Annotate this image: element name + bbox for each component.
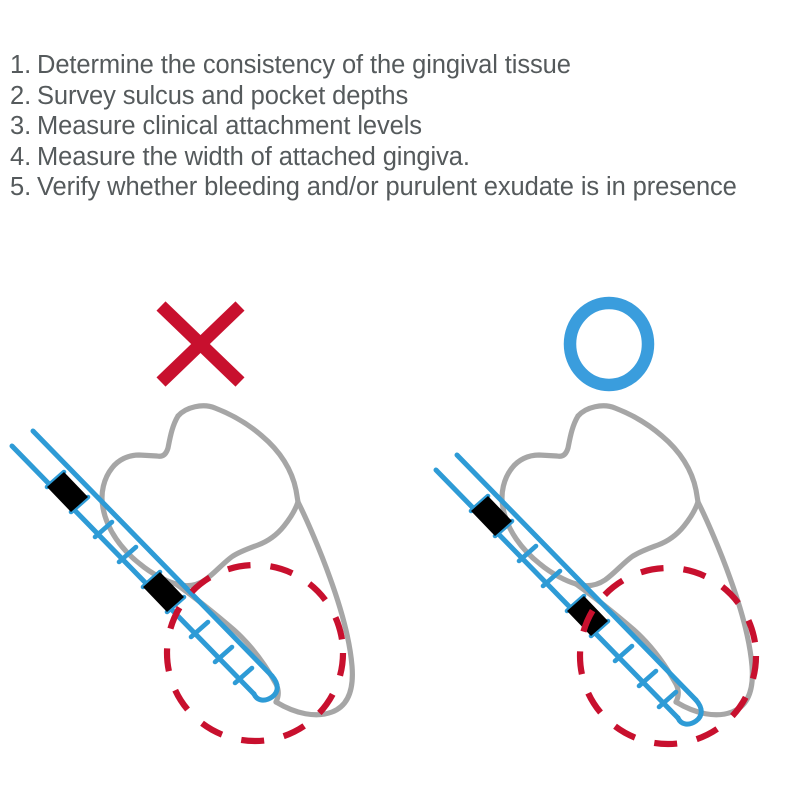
list-item: 4. Measure the width of attached gingiva… xyxy=(10,142,800,173)
red-dashed-circle-highlight xyxy=(580,568,756,744)
incorrect-probing-figure xyxy=(0,398,400,768)
page-root: 1. Determine the consistency of the ging… xyxy=(0,0,800,800)
list-item-label: Verify whether bleeding and/or purulent … xyxy=(37,172,737,203)
correct-verdict-mark xyxy=(558,294,662,394)
list-item-label: Survey sulcus and pocket depths xyxy=(37,81,408,112)
list-item-label: Measure clinical attachment levels xyxy=(37,111,422,142)
list-item: 5. Verify whether bleeding and/or purule… xyxy=(10,172,800,203)
list-item-number: 4. xyxy=(10,142,37,173)
list-item-label: Measure the width of attached gingiva. xyxy=(37,142,470,173)
cross-mark-icon xyxy=(152,296,248,392)
incorrect-probing-illustration xyxy=(0,398,400,768)
list-item-number: 3. xyxy=(10,111,37,142)
list-item-number: 1. xyxy=(10,50,37,81)
list-item-number: 5. xyxy=(10,172,37,203)
list-item: 2. Survey sulcus and pocket depths xyxy=(10,81,800,112)
instruction-list: 1. Determine the consistency of the ging… xyxy=(10,50,800,203)
correct-probing-figure xyxy=(400,398,800,768)
list-item-label: Determine the consistency of the gingiva… xyxy=(37,50,571,81)
circle-mark-icon xyxy=(558,294,662,394)
correct-probing-illustration xyxy=(400,398,800,768)
list-item: 3. Measure clinical attachment levels xyxy=(10,111,800,142)
graduated-periodontal-probe xyxy=(436,455,701,724)
list-item: 1. Determine the consistency of the ging… xyxy=(10,50,800,81)
incorrect-verdict-mark xyxy=(152,296,248,392)
list-item-number: 2. xyxy=(10,81,37,112)
